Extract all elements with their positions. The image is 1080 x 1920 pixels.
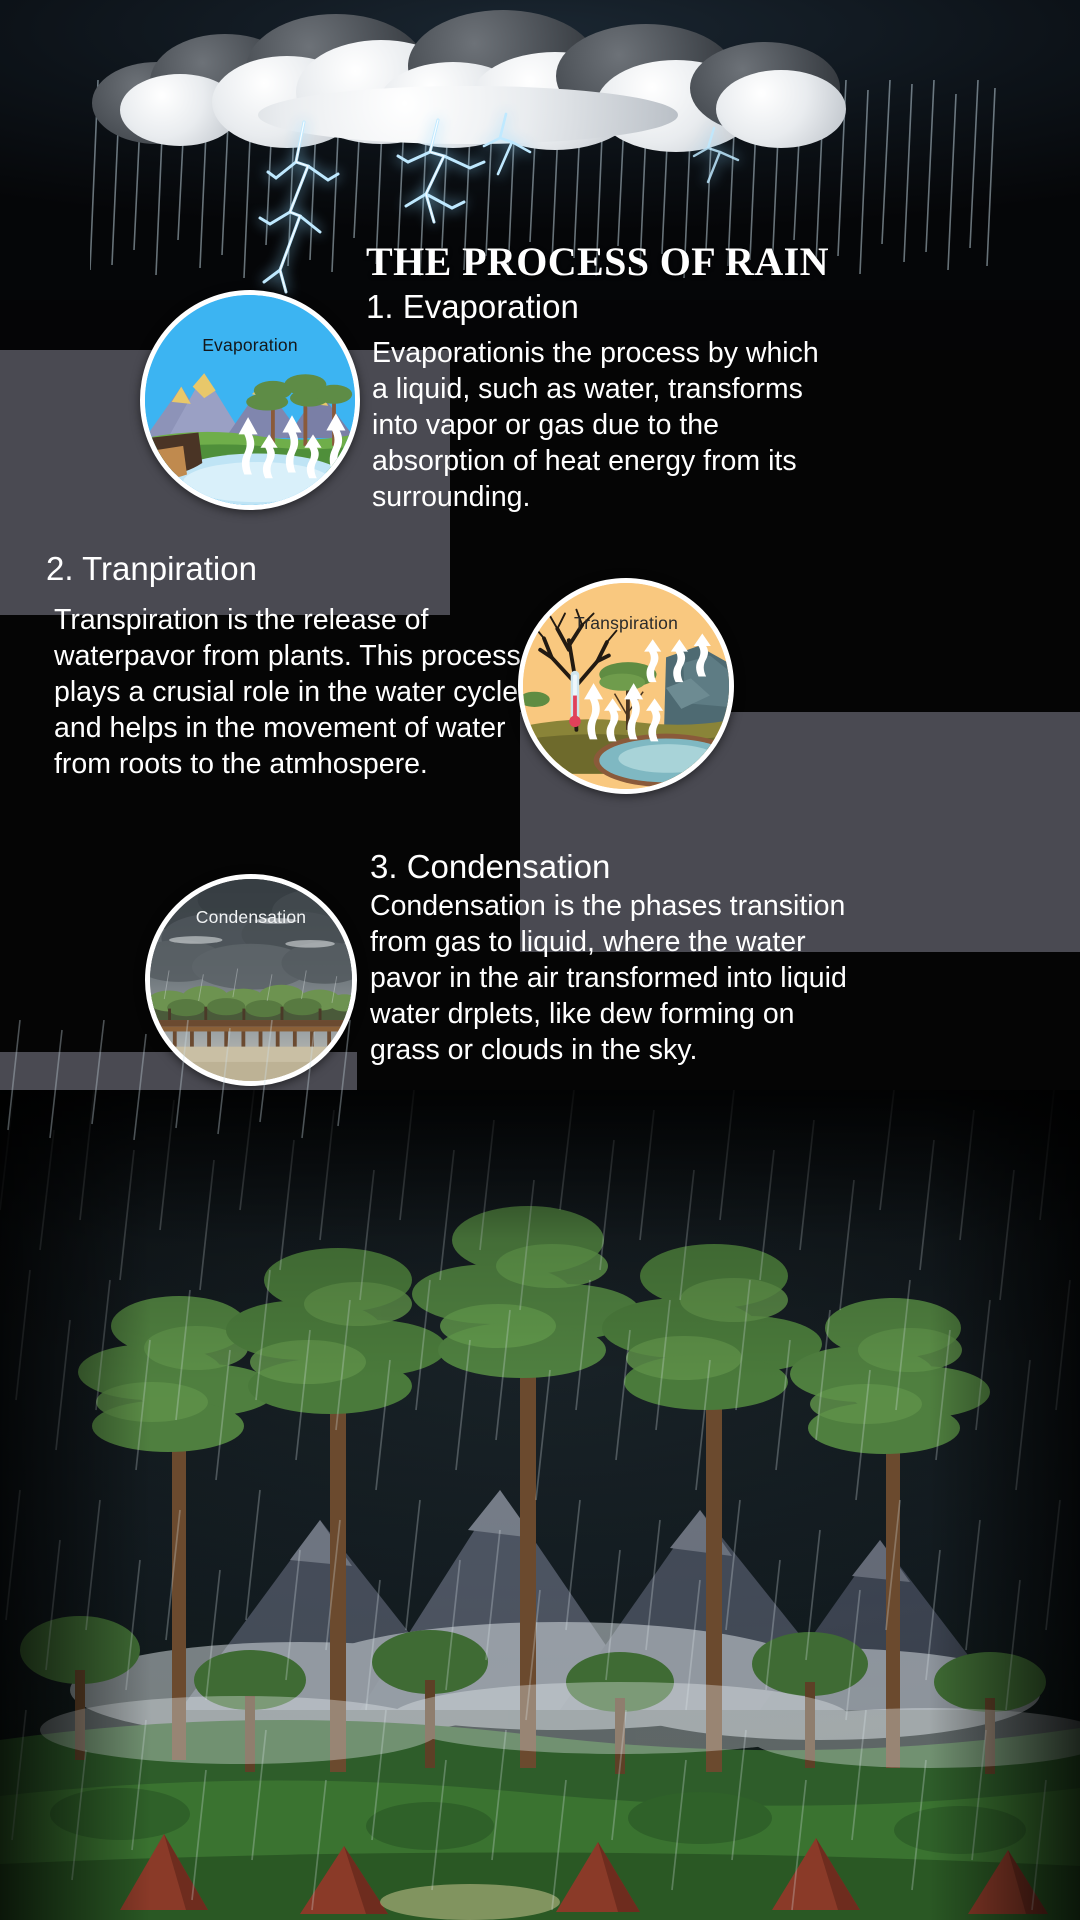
- lightning-bolt-icon: [684, 126, 764, 192]
- band-rain-streaks-icon: [0, 1020, 360, 1140]
- section-3-body: Condensation is the phases transition fr…: [370, 888, 850, 1068]
- section-1-heading: 1. Evaporation: [366, 288, 579, 326]
- lightning-bolt-icon: [246, 120, 356, 295]
- section-3-heading: 3. Condensation: [370, 848, 610, 886]
- section-2-body: Transpiration is the release of waterpav…: [54, 602, 524, 782]
- lightning-bolt-icon: [470, 112, 550, 188]
- evaporation-illustration-badge: Evaporation: [140, 290, 360, 510]
- evaporation-badge-label: Evaporation: [145, 335, 355, 356]
- page-title: THE PROCESS OF RAIN: [366, 240, 1056, 284]
- rainy-forest-scene: [0, 1090, 1080, 1920]
- transpiration-illustration-badge: Transpiration: [518, 578, 734, 794]
- infographic-page: THE PROCESS OF RAIN 1. Evaporation Evapo…: [0, 0, 1080, 1920]
- forest-vignette: [0, 1090, 1080, 1920]
- condensation-badge-label: Condensation: [150, 907, 352, 928]
- section-1-body: Evaporationis the process by which a liq…: [372, 335, 842, 515]
- section-2-heading: 2. Tranpiration: [46, 550, 257, 588]
- mountains-lake-trees-upward-arrows-icon: [145, 295, 355, 505]
- transpiration-badge-label: Transpiration: [523, 613, 729, 634]
